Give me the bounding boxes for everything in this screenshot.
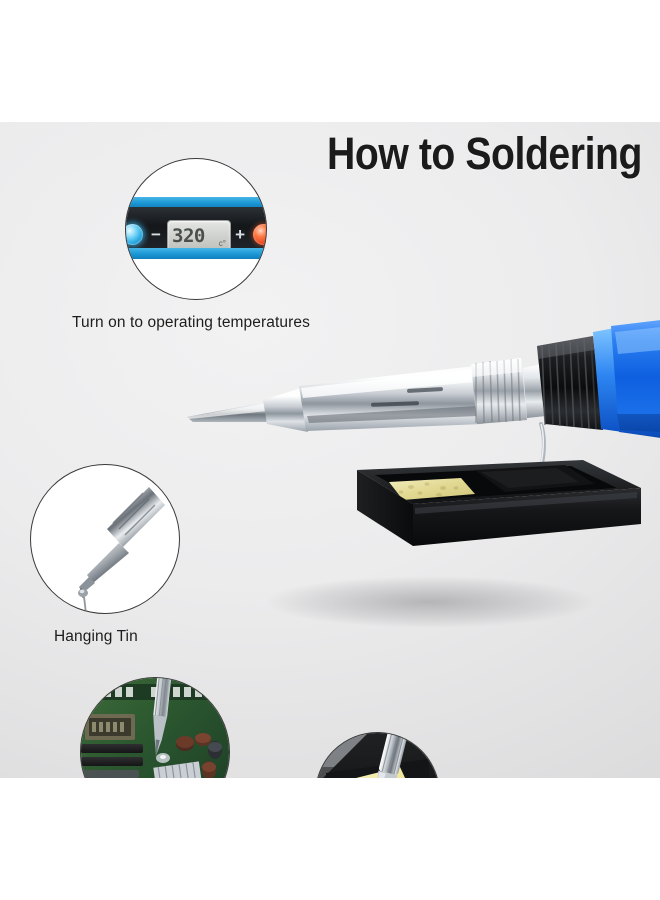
callout-caption-hanging-tin: Hanging Tin bbox=[54, 628, 138, 646]
temperature-unit: c° bbox=[219, 239, 226, 248]
hanging-tin-circle bbox=[30, 464, 180, 614]
callout-caption-turn-on: Turn on to operating temperatures bbox=[72, 314, 310, 332]
page-title: How to Soldering bbox=[327, 128, 642, 180]
soldering-photo-circle bbox=[80, 677, 230, 778]
control-panel: − 320 c° + bbox=[125, 197, 267, 259]
panel-accent-stripe-bottom bbox=[125, 248, 267, 259]
power-led-icon bbox=[125, 224, 143, 245]
temperature-display-circle: − 320 c° + bbox=[125, 158, 267, 300]
cleaning-tip-illustration bbox=[316, 733, 439, 778]
cleaning-tip-circle bbox=[315, 732, 440, 778]
panel-body: − 320 c° + bbox=[125, 207, 267, 249]
temperature-value: 320 bbox=[172, 225, 205, 247]
infographic-canvas: How to Soldering bbox=[0, 122, 660, 778]
heat-led-icon bbox=[253, 224, 267, 245]
product-hero-image bbox=[175, 302, 660, 632]
pcb-illustration bbox=[81, 678, 229, 778]
decrease-temp-button[interactable]: − bbox=[151, 226, 161, 243]
increase-temp-button[interactable]: + bbox=[235, 226, 245, 243]
soldering-iron-illustration bbox=[175, 302, 660, 632]
hanging-tin-illustration bbox=[31, 465, 179, 613]
